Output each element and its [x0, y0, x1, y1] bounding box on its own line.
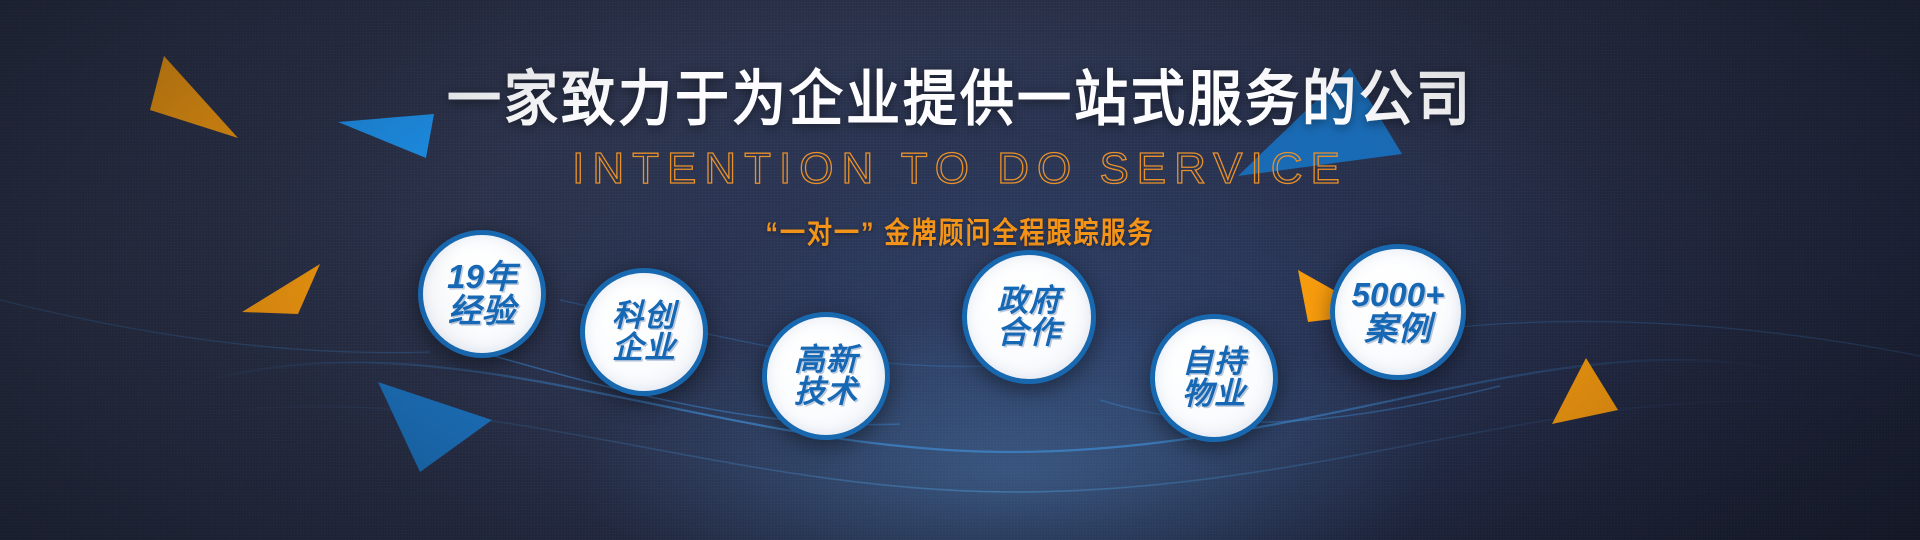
bubble-line-2: 物业 [1182, 378, 1246, 410]
tagline: “一对一” 金牌顾问全程跟踪服务 [766, 209, 1155, 251]
orange-triangle-bottom-right-icon [1546, 354, 1626, 432]
bubble-line-2: 案例 [1364, 312, 1432, 346]
feature-bubble-own-property[interactable]: 自持 物业 [1150, 314, 1278, 442]
page-title: 一家致力于为企业提供一站式服务的公司 [0, 68, 1920, 131]
bubble-line-2: 经验 [448, 294, 516, 328]
bubble-line-1: 高新 [794, 344, 858, 376]
tagline-wrapper: “一对一” 金牌顾问全程跟踪服务 [0, 213, 1920, 249]
bubble-line-1: 自持 [1182, 346, 1246, 378]
feature-bubble-gov-cooperation[interactable]: 政府 合作 [962, 250, 1096, 384]
headline-block: 一家致力于为企业提供一站式服务的公司 INTENTION TO DO SERVI… [0, 68, 1920, 249]
hero-banner: 一家致力于为企业提供一站式服务的公司 INTENTION TO DO SERVI… [0, 0, 1920, 540]
bubble-line-2: 合作 [997, 317, 1061, 349]
blue-triangle-bottom-left-icon [372, 366, 502, 476]
bubble-line-1: 5000+ [1352, 278, 1445, 312]
bubble-line-1: 政府 [997, 285, 1061, 317]
feature-bubble-high-tech[interactable]: 高新 技术 [762, 312, 890, 440]
feature-bubble-tech-startup[interactable]: 科创 企业 [580, 268, 708, 396]
feature-bubble-years-experience[interactable]: 19年 经验 [418, 230, 546, 358]
feature-bubble-cases-count[interactable]: 5000+ 案例 [1330, 244, 1466, 380]
bubble-line-1: 19年 [447, 260, 517, 294]
orange-triangle-mid-left-icon [238, 258, 328, 320]
bubble-line-2: 技术 [794, 376, 858, 408]
english-subtitle: INTENTION TO DO SERVICE [0, 147, 1920, 191]
bubble-line-1: 科创 [612, 300, 676, 332]
bubble-line-2: 企业 [612, 332, 676, 364]
